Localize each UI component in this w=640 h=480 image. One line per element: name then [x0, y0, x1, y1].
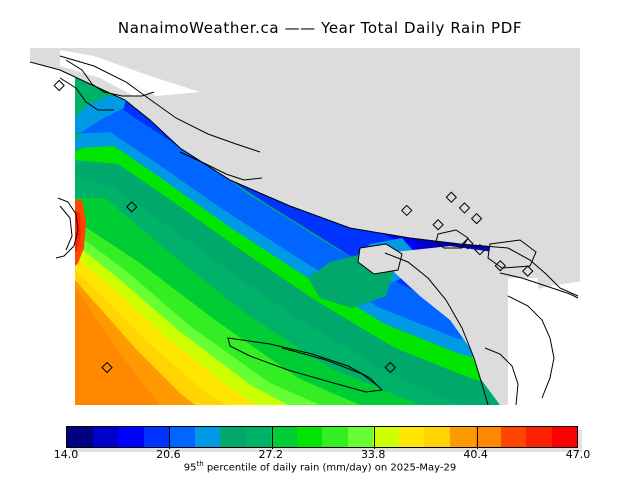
colorbar-tick-line-4 [477, 427, 478, 449]
caption-superscript: th [196, 460, 203, 468]
colorbar-band-5 [195, 427, 221, 447]
rainfall-contour-map [30, 48, 580, 405]
colorbar-band-9 [297, 427, 323, 447]
colorbar-caption: 95th percentile of daily rain (mm/day) o… [0, 460, 640, 473]
colorbar-band-6 [220, 427, 246, 447]
colorbar-band-13 [399, 427, 425, 447]
colorbar-tick-line-1 [169, 427, 170, 449]
colorbar-band-18 [526, 427, 552, 447]
colorbar-band-12 [373, 427, 399, 447]
colorbar-band-14 [424, 427, 450, 447]
colorbar-band-8 [271, 427, 297, 447]
nodata-inlet-east [508, 280, 580, 405]
colorbar-band-7 [246, 427, 272, 447]
colorbar-band-19 [552, 427, 578, 447]
colorbar-band-11 [348, 427, 374, 447]
colorbar-band-4 [169, 427, 195, 447]
colorbar-band-17 [501, 427, 527, 447]
page-title: NanaimoWeather.ca —— Year Total Daily Ra… [0, 19, 640, 37]
colorbar-band-3 [144, 427, 170, 447]
colorbar-tick-line-3 [374, 427, 375, 449]
colorbar-band-10 [322, 427, 348, 447]
colorbar-band-0 [67, 427, 93, 447]
colorbar-band-1 [93, 427, 119, 447]
map-plot-panel [30, 48, 580, 405]
colorbar-band-2 [118, 427, 144, 447]
colorbar-band-15 [450, 427, 476, 447]
colorbar-band-16 [475, 427, 501, 447]
colorbar-gradient[interactable] [66, 426, 578, 448]
colorbar-container[interactable] [66, 426, 578, 448]
colorbar-tick-line-2 [272, 427, 273, 449]
